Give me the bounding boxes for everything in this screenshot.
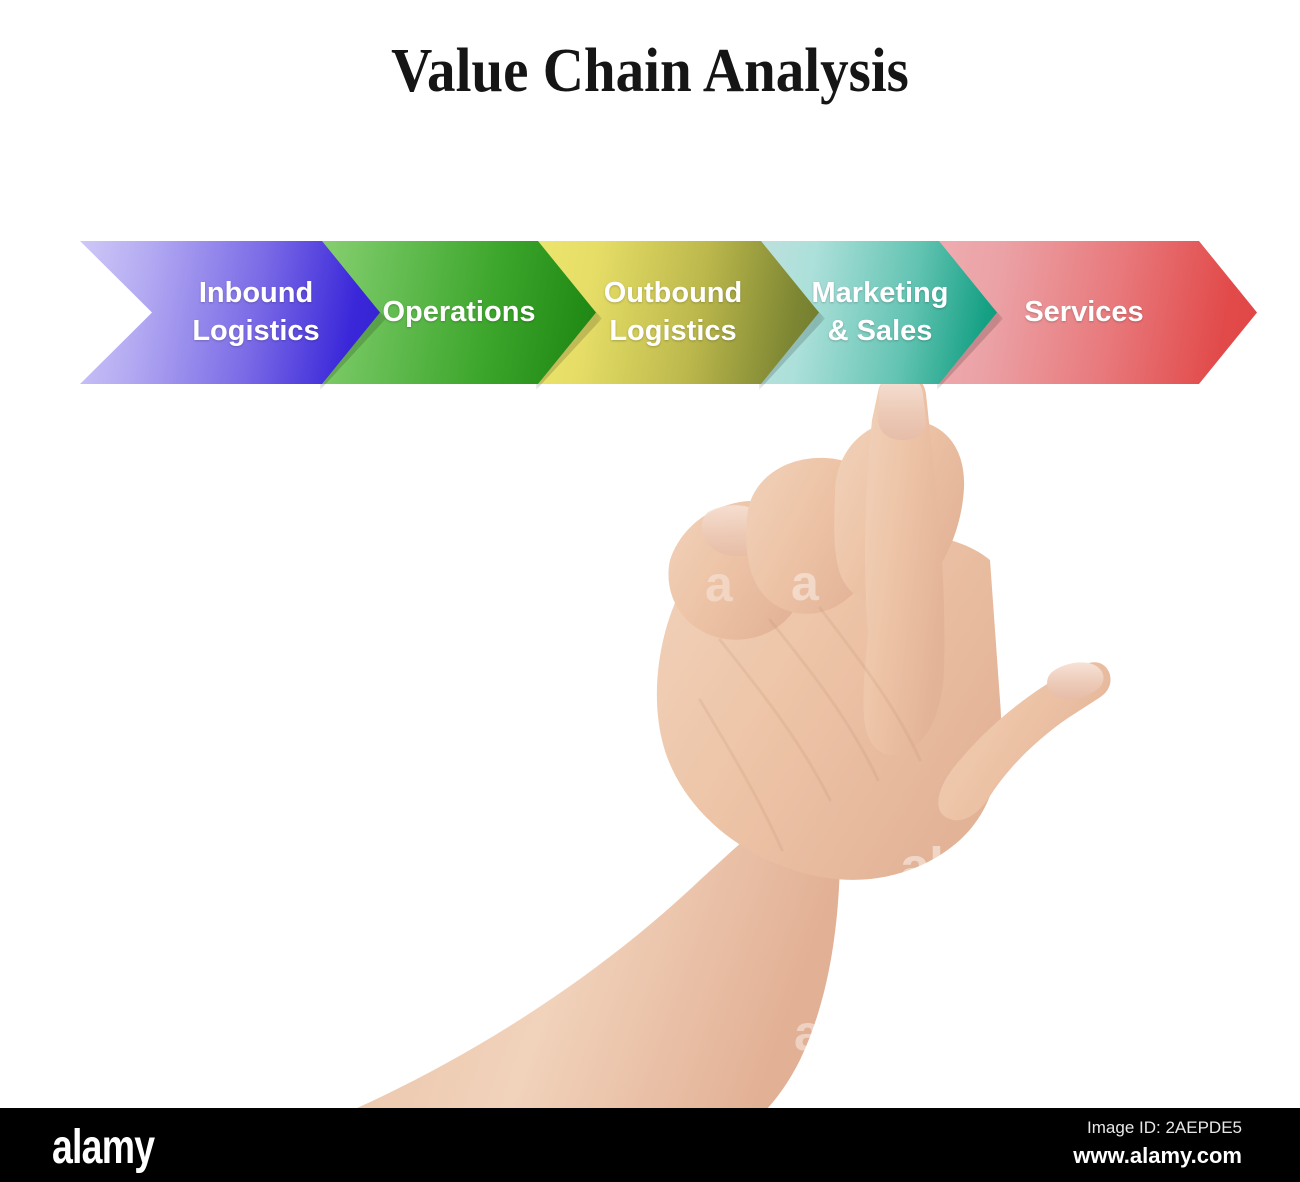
index-finger [863,373,944,755]
watermark-letter-a: a [794,1004,822,1062]
pinky-finger [668,501,809,640]
pointing-hand-illustration [0,0,1300,1182]
chevron-body [80,241,380,384]
thumb-nail [1047,662,1103,699]
page-title: Value Chain Analysis [52,36,1248,107]
alamy-url[interactable]: www.alamy.com [1073,1143,1242,1169]
pinky-nail [702,505,770,556]
value-chain-analysis-image: Value Chain Analysis Inbound Logistics O… [0,0,1300,1182]
alamy-logo: alamy [52,1120,154,1175]
value-chain-chevron-strip: Inbound Logistics Operations Outbound Lo… [0,241,1300,386]
hand-back [657,536,1001,880]
watermark-letter-a: a [791,554,819,612]
image-id-label: Image ID: 2AEPDE5 [1087,1118,1242,1138]
watermark-wordmark: alamy [900,836,1048,898]
alamy-footer-bar: alamy Image ID: 2AEPDE5 www.alamy.com [0,1108,1300,1182]
chevron-stage-inbound-logistics[interactable]: Inbound Logistics [80,241,380,384]
thumb [938,662,1110,820]
hand-shading [700,608,920,850]
watermark-letter-a: a [705,555,733,613]
ring-finger [746,458,884,614]
middle-finger [834,420,964,604]
